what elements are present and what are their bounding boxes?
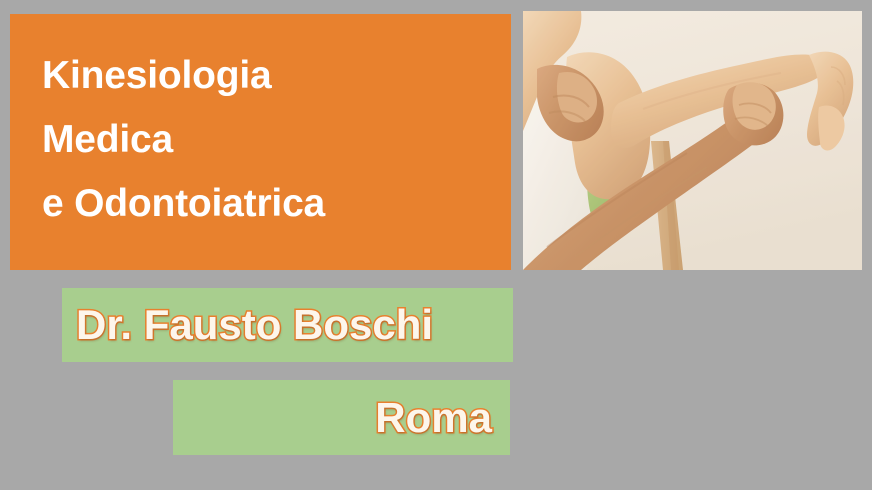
title-line-3: e Odontoiatrica [42, 172, 511, 236]
doctor-name-bar: Dr. Fausto Boschi [62, 288, 513, 362]
city-text: Roma [375, 394, 492, 442]
doctor-name-text: Dr. Fausto Boschi [76, 301, 433, 349]
city-bar: Roma [173, 380, 510, 455]
title-line-2: Medica [42, 108, 511, 172]
title-line-1: Kinesiologia [42, 44, 511, 108]
presentation-slide: Kinesiologia Medica e Odontoiatrica [0, 0, 872, 490]
title-panel: Kinesiologia Medica e Odontoiatrica [10, 14, 511, 270]
kinesiology-photo [523, 11, 862, 270]
kinesiology-photo-illustration [523, 11, 862, 270]
